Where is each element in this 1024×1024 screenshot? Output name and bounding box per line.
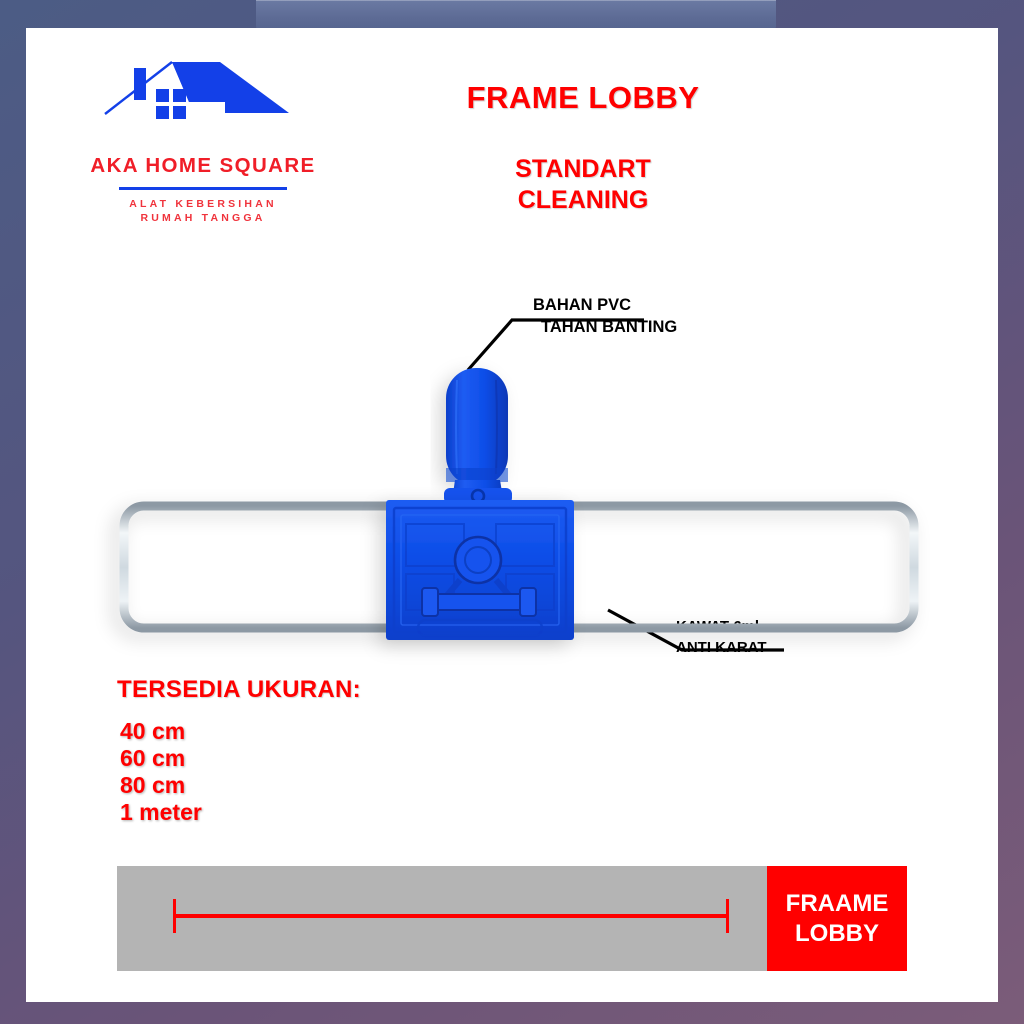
poster-canvas: AKA HOME SQUARE ALAT KEBERSIHAN RUMAH TA… [26, 28, 998, 1002]
brand-logo: AKA HOME SQUARE ALAT KEBERSIHAN RUMAH TA… [88, 50, 318, 240]
bottom-banner: FRAAME LOBBY [117, 866, 907, 971]
list-item: 80 cm [120, 772, 202, 799]
list-item: 60 cm [120, 745, 202, 772]
list-item: 40 cm [120, 718, 202, 745]
measure-cap-right [726, 899, 729, 933]
measure-line [173, 914, 729, 918]
page-subtitle-line1: STANDART [418, 154, 748, 185]
house-roof-icon [103, 50, 303, 140]
brand-divider [119, 187, 287, 190]
top-tab-strip [256, 0, 776, 30]
poster-frame: AKA HOME SQUARE ALAT KEBERSIHAN RUMAH TA… [0, 0, 1024, 1024]
page-subtitle-line2: CLEANING [418, 185, 748, 216]
page-subtitle: STANDART CLEANING [418, 154, 748, 216]
brand-name: AKA HOME SQUARE [88, 154, 318, 178]
sizes-heading: TERSEDIA UKURAN: [117, 676, 361, 704]
banner-tag-line2: LOBBY [795, 919, 879, 949]
product-plate [386, 500, 574, 640]
page-title: FRAME LOBBY [418, 80, 748, 116]
brand-tagline-line1: ALAT KEBERSIHAN [88, 197, 318, 211]
product-image-frame-lobby [86, 328, 946, 668]
list-item: 1 meter [120, 799, 202, 826]
banner-tag-line1: FRAAME [786, 889, 889, 919]
product-handle-socket [446, 368, 508, 486]
brand-tagline-line2: RUMAH TANGGA [88, 211, 318, 225]
sizes-list: 40 cm 60 cm 80 cm 1 meter [120, 718, 202, 826]
banner-product-tag: FRAAME LOBBY [767, 866, 907, 971]
measurement-indicator [117, 866, 767, 971]
